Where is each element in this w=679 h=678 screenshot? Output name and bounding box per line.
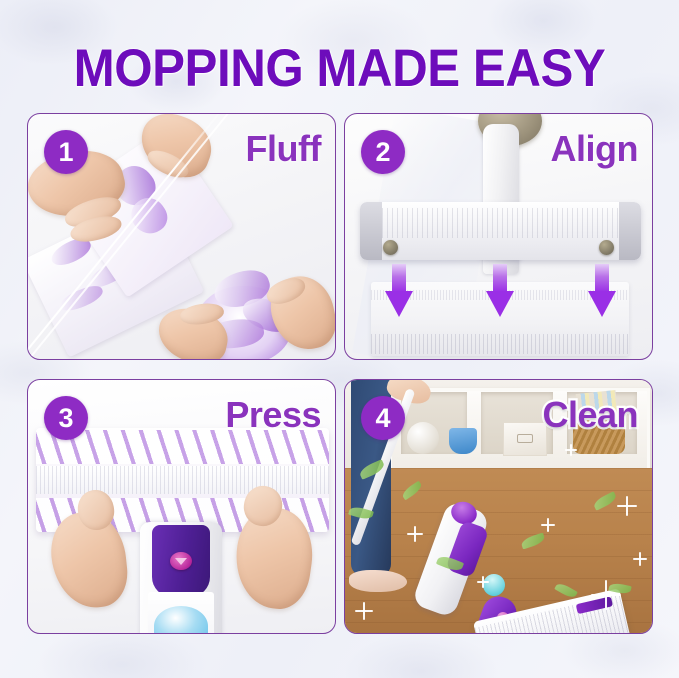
- step-panel-clean[interactable]: 4 Clean: [344, 379, 653, 634]
- step-panel-align[interactable]: 2 Align: [344, 113, 653, 360]
- arrow-tip: [486, 291, 514, 317]
- instruction-poster: MOPPING MADE EASY: [0, 0, 679, 678]
- step-panel-press[interactable]: 3 Press: [27, 379, 336, 634]
- step-number-badge-4: 4: [361, 396, 405, 440]
- mop-head-ribs: [372, 208, 629, 238]
- step-number-badge-3: 3: [44, 396, 88, 440]
- arrow-stem: [595, 264, 609, 292]
- step-label-align: Align: [551, 128, 638, 170]
- step-panel-fluff[interactable]: 1 Fluff: [27, 113, 336, 360]
- mop-head-cap-right: [619, 202, 641, 260]
- solution-bottle: [148, 592, 214, 634]
- down-arrow-icon: [385, 264, 413, 318]
- decor-ball: [407, 422, 439, 454]
- bottle-liquid: [154, 606, 208, 634]
- step-label-press: Press: [225, 394, 321, 436]
- arrow-stem: [493, 264, 507, 292]
- arrow-stem: [392, 264, 406, 292]
- mop-head: [360, 202, 641, 260]
- mop-head-gripper-left: [383, 240, 398, 255]
- mop-head-cap-left: [360, 202, 382, 260]
- down-arrow-icon: [486, 264, 514, 318]
- storage-box-label: [517, 434, 533, 443]
- spray-button: [170, 552, 192, 570]
- decor-blue-pot: [449, 428, 477, 454]
- person-shoe: [349, 570, 407, 592]
- steps-grid: 1 Fluff: [27, 113, 653, 646]
- step-label-fluff: Fluff: [246, 128, 321, 170]
- step-number-badge-2: 2: [361, 130, 405, 174]
- down-arrow-icon: [588, 264, 616, 318]
- step-number-badge-1: 1: [44, 130, 88, 174]
- step-label-clean: Clean: [542, 394, 638, 436]
- pad-fringe: [371, 334, 629, 354]
- pad-mesh: [36, 466, 329, 494]
- mop-head-gripper-right: [599, 240, 614, 255]
- page-title: MOPPING MADE EASY: [24, 38, 655, 99]
- arrow-tip: [588, 291, 616, 317]
- arrow-tip: [385, 291, 413, 317]
